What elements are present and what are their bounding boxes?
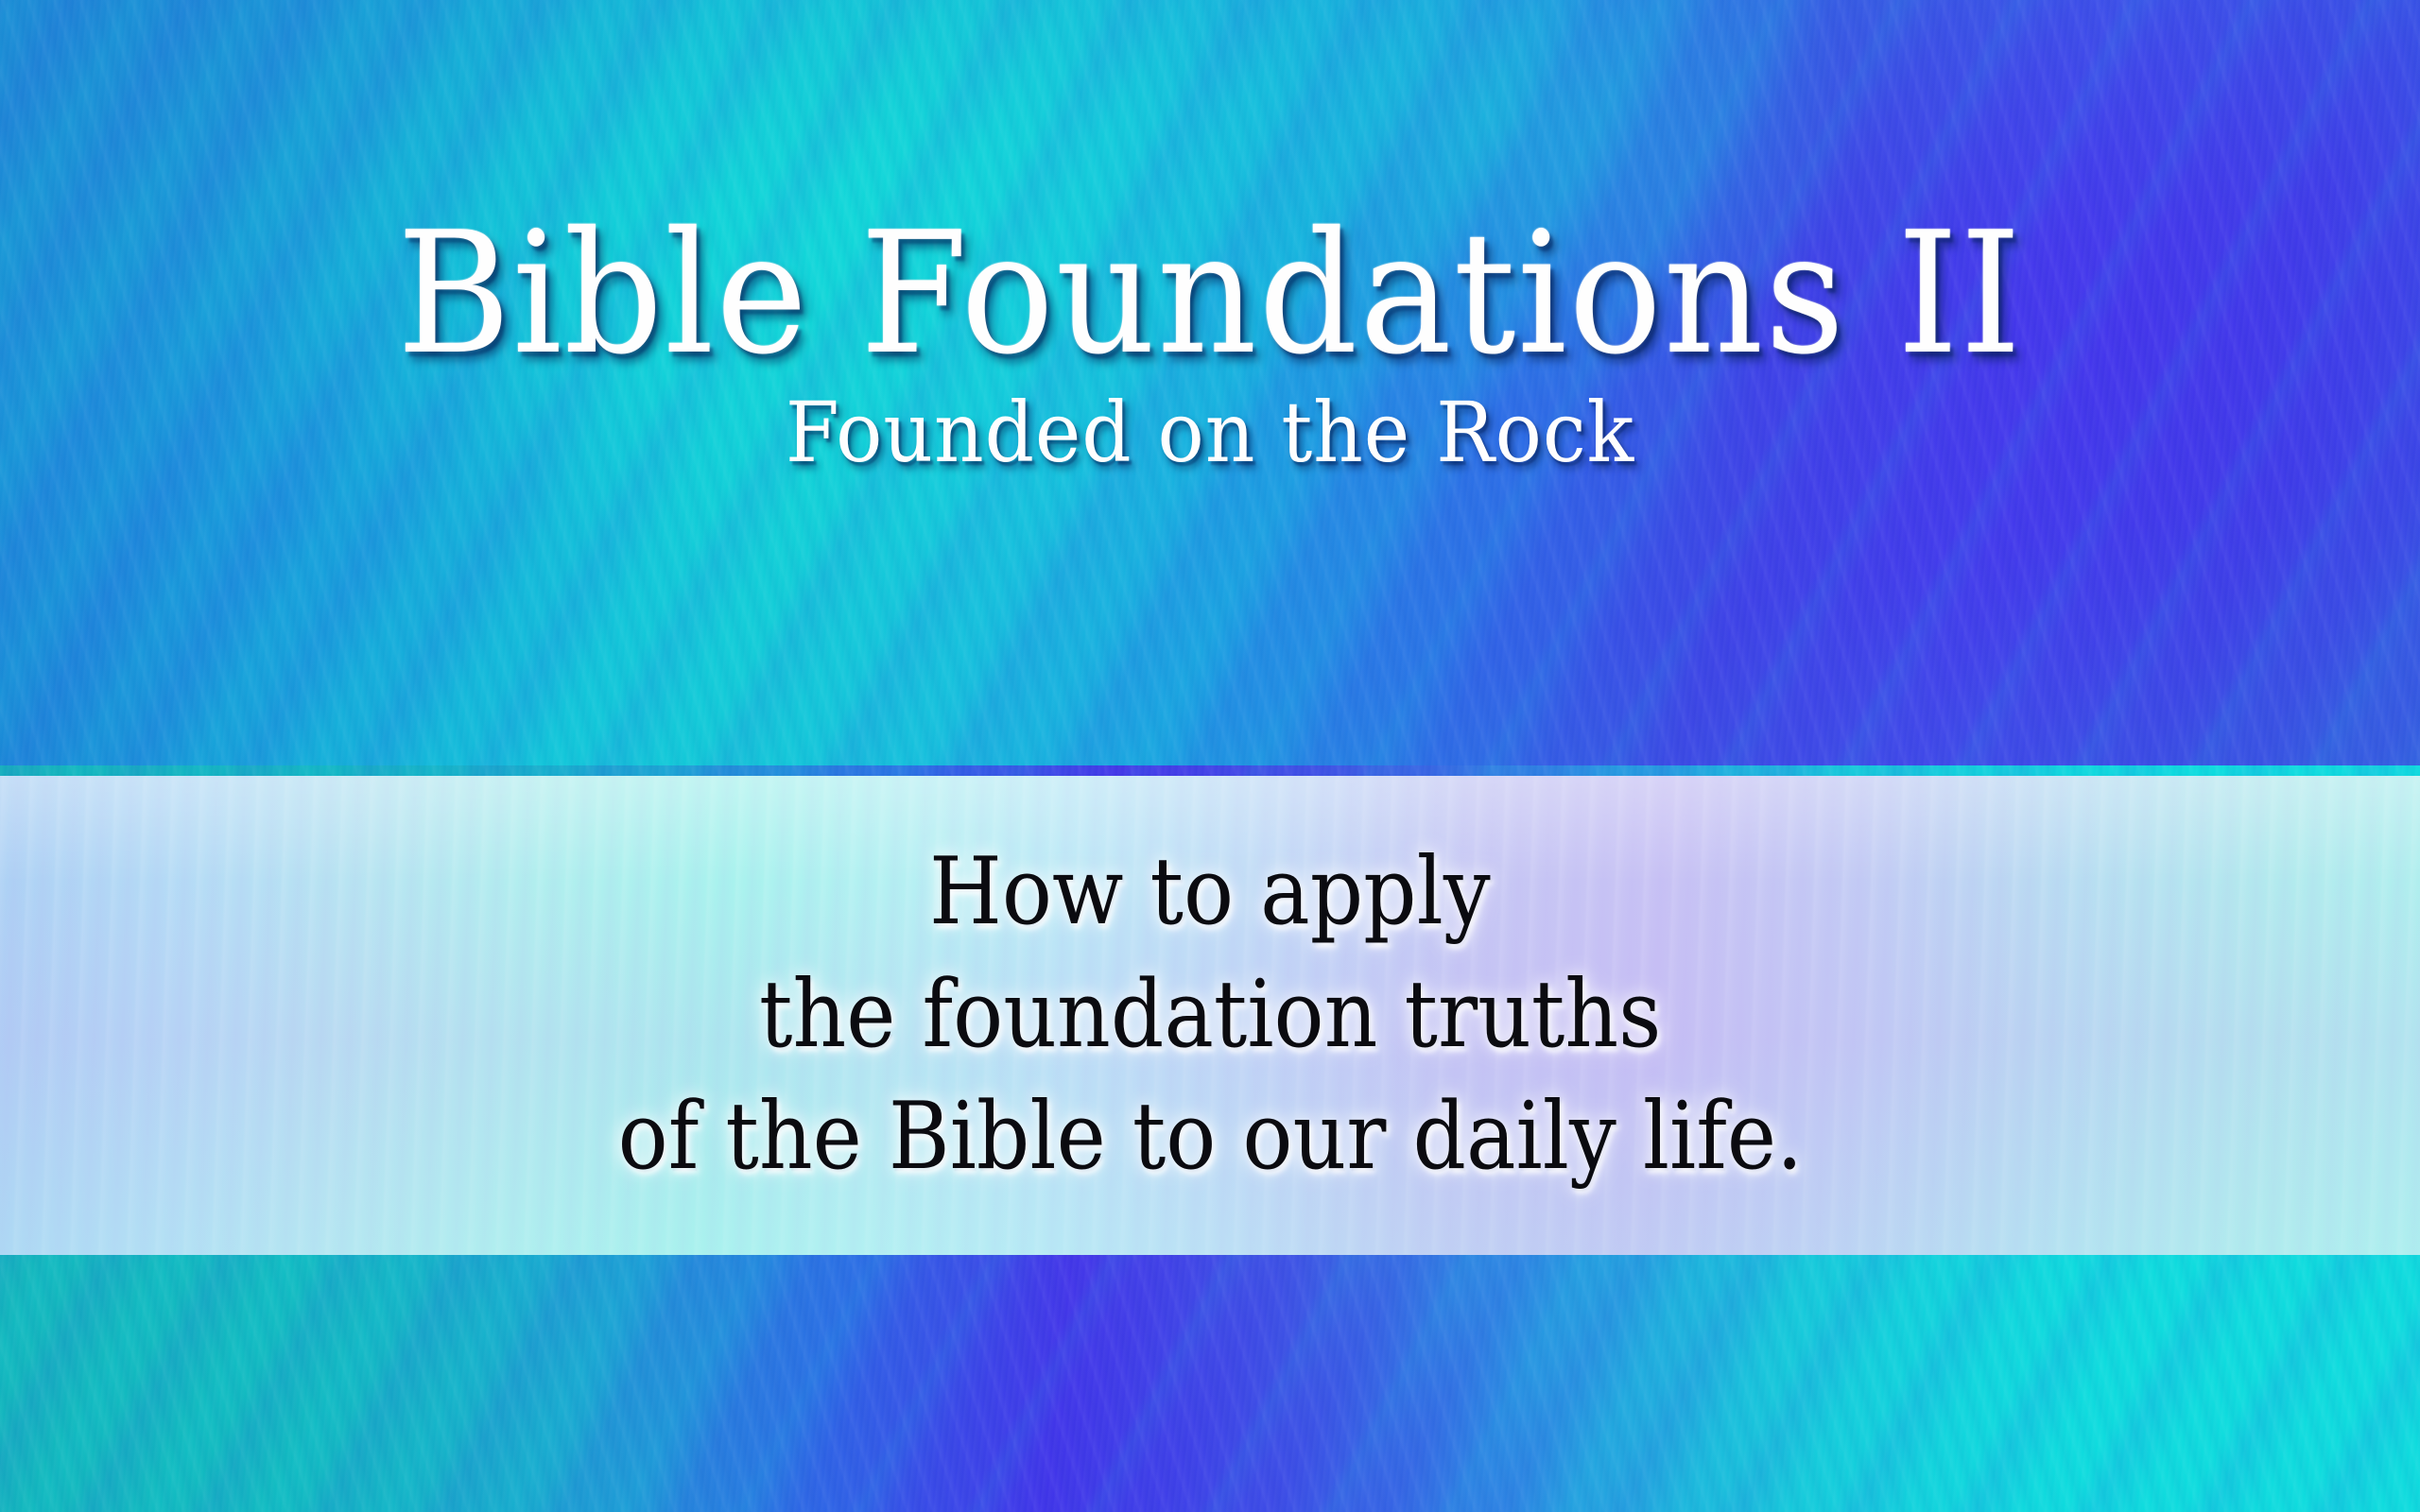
body-line: the foundation truths — [759, 954, 1661, 1076]
body-line: How to apply — [929, 832, 1491, 954]
title-slide: Bible Foundations II Founded on the Rock… — [0, 0, 2420, 1512]
body-text-block: How to apply the foundation truths of th… — [0, 776, 2420, 1255]
body-line: of the Bible to our daily life. — [617, 1076, 1803, 1198]
heading-block: Bible Foundations II Founded on the Rock — [0, 0, 2420, 474]
page-subtitle: Founded on the Rock — [85, 378, 2336, 474]
page-title: Bible Foundations II — [96, 0, 2323, 378]
